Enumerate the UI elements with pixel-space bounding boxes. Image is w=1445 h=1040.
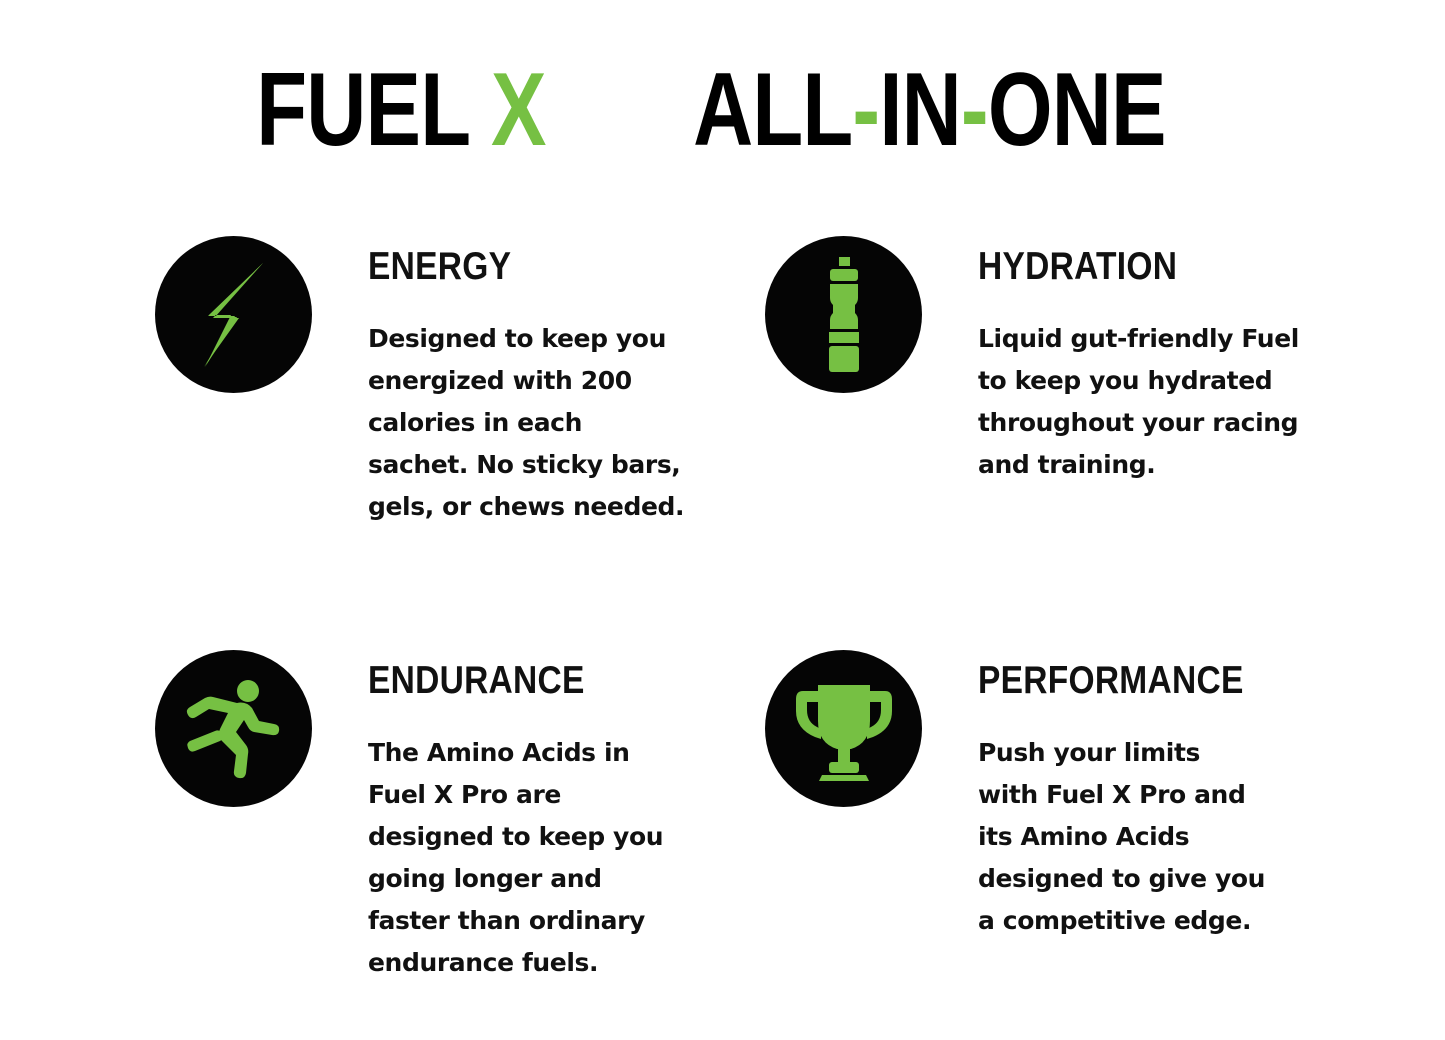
energy-text-block: ENERGY Designed to keep you energized wi… [368, 236, 698, 528]
lightning-bolt-icon [191, 261, 277, 369]
title-all-in-one: ALL-IN-ONE [693, 58, 1166, 162]
title-all-word: ALL [693, 52, 852, 168]
endurance-text-block: ENDURANCE The Amino Acids in Fuel X Pro … [368, 650, 698, 984]
endurance-description: The Amino Acids in Fuel X Pro are design… [368, 732, 698, 984]
endurance-heading: ENDURANCE [368, 661, 652, 700]
page-title: FUEL X ALL-IN-ONE [0, 58, 1445, 162]
performance-text-block: PERFORMANCE Push your limits with Fuel X… [978, 650, 1308, 942]
performance-heading: PERFORMANCE [978, 661, 1262, 700]
feature-card-hydration: HYDRATION Liquid gut-friendly Fuel to ke… [765, 236, 1308, 486]
energy-description: Designed to keep you energized with 200 … [368, 318, 698, 528]
performance-icon-badge [765, 650, 922, 807]
title-x-accent: X [491, 52, 546, 168]
hydration-description: Liquid gut-friendly Fuel to keep you hyd… [978, 318, 1308, 486]
energy-heading: ENERGY [368, 247, 652, 286]
runner-icon [184, 679, 284, 779]
title-fuel-word: FUEL [256, 52, 491, 168]
performance-description: Push your limits with Fuel X Pro and its… [978, 732, 1308, 942]
trophy-icon [791, 677, 897, 781]
title-in-word: IN [879, 52, 961, 168]
hydration-icon-badge [765, 236, 922, 393]
water-bottle-icon [818, 257, 870, 373]
hydration-heading: HYDRATION [978, 247, 1262, 286]
title-hyphen-2-accent: - [961, 52, 988, 168]
energy-icon-badge [155, 236, 312, 393]
feature-card-energy: ENERGY Designed to keep you energized wi… [155, 236, 698, 528]
title-fuel-x: FUEL X [256, 58, 546, 162]
feature-card-endurance: ENDURANCE The Amino Acids in Fuel X Pro … [155, 650, 698, 984]
title-one-word: ONE [988, 52, 1166, 168]
hydration-text-block: HYDRATION Liquid gut-friendly Fuel to ke… [978, 236, 1308, 486]
feature-card-performance: PERFORMANCE Push your limits with Fuel X… [765, 650, 1308, 942]
title-hyphen-1-accent: - [852, 52, 879, 168]
endurance-icon-badge [155, 650, 312, 807]
